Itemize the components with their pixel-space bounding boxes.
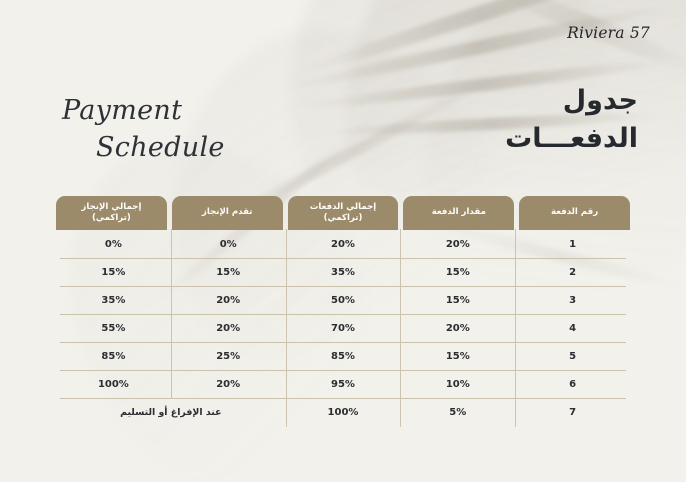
table-row-final: عند الإفراغ أو التسليم 100% 5% 7 [56, 398, 630, 426]
column-header-line2: (تراكمي) [310, 213, 377, 224]
page-title-english: Payment Schedule [62, 92, 225, 167]
payment-schedule-table: إجمالي الإنجاز (تراكمي) تقدم الإنجاز إجم… [56, 196, 630, 426]
cell-payment-number: 6 [515, 370, 630, 398]
column-header-line1: تقدم الإنجاز [202, 207, 253, 218]
title-english-line1: Payment [62, 95, 182, 126]
column-header-line1: إجمالي الدفعات [310, 202, 377, 213]
cell-payment-amount: 20% [400, 314, 515, 342]
cell-completion-progress: 15% [171, 258, 286, 286]
column-header-line1: إجمالي الإنجاز [81, 202, 141, 213]
column-header-line1: مقدار الدفعة [432, 207, 486, 218]
cell-total-completion: 100% [56, 370, 171, 398]
cell-completion-progress: 20% [171, 370, 286, 398]
palm-blade [293, 1, 668, 94]
title-arabic-line1: جدول [563, 85, 638, 116]
table-row: 100% 20% 95% 10% 6 [56, 370, 630, 398]
column-header-payment-number: رقم الدفعة [519, 196, 630, 230]
table-header-row: إجمالي الإنجاز (تراكمي) تقدم الإنجاز إجم… [56, 196, 630, 230]
cell-total-completion: 35% [56, 286, 171, 314]
cell-total-payments: 95% [286, 370, 401, 398]
column-header-total-completion: إجمالي الإنجاز (تراكمي) [56, 196, 167, 230]
cell-payment-number: 2 [515, 258, 630, 286]
cell-total-completion: 15% [56, 258, 171, 286]
cell-payment-number: 5 [515, 342, 630, 370]
cell-total-payments: 70% [286, 314, 401, 342]
cell-completion-progress: 20% [171, 286, 286, 314]
cell-total-payments: 35% [286, 258, 401, 286]
table-row: 35% 20% 50% 15% 3 [56, 286, 630, 314]
cell-payment-amount: 5% [400, 398, 515, 426]
cell-payment-amount: 10% [400, 370, 515, 398]
table-row: 85% 25% 85% 15% 5 [56, 342, 630, 370]
cell-total-completion: 0% [56, 230, 171, 258]
column-header-line1: رقم الدفعة [551, 207, 598, 218]
column-header-total-payments: إجمالي الدفعات (تراكمي) [288, 196, 399, 230]
cell-payment-number: 1 [515, 230, 630, 258]
cell-total-payments: 85% [286, 342, 401, 370]
cell-total-payments: 50% [286, 286, 401, 314]
cell-completion-progress: 20% [171, 314, 286, 342]
page-title-arabic: جدول الدفعـــات [505, 82, 638, 159]
table-row: 55% 20% 70% 20% 4 [56, 314, 630, 342]
cell-total-completion: 55% [56, 314, 171, 342]
column-header-completion-progress: تقدم الإنجاز [172, 196, 283, 230]
cell-payment-amount: 15% [400, 258, 515, 286]
cell-payment-number: 4 [515, 314, 630, 342]
cell-delivery-note: عند الإفراغ أو التسليم [56, 398, 286, 426]
title-english-line2: Schedule [62, 129, 225, 166]
cell-payment-number: 3 [515, 286, 630, 314]
cell-completion-progress: 25% [171, 342, 286, 370]
brand-logo: Riviera 57 [567, 24, 650, 42]
cell-payment-number: 7 [515, 398, 630, 426]
cell-completion-progress: 0% [171, 230, 286, 258]
column-header-line2: (تراكمي) [81, 213, 141, 224]
cell-payment-amount: 15% [400, 342, 515, 370]
cell-total-payments: 20% [286, 230, 401, 258]
cell-payment-amount: 15% [400, 286, 515, 314]
table-body: 0% 0% 20% 20% 1 15% 15% 35% 15% 2 35% 20… [56, 230, 630, 426]
table-row: 0% 0% 20% 20% 1 [56, 230, 630, 258]
cell-total-payments: 100% [286, 398, 401, 426]
title-arabic-line2: الدفعـــات [505, 120, 638, 158]
column-header-payment-amount: مقدار الدفعة [403, 196, 514, 230]
cell-payment-amount: 20% [400, 230, 515, 258]
cell-total-completion: 85% [56, 342, 171, 370]
table-row: 15% 15% 35% 15% 2 [56, 258, 630, 286]
